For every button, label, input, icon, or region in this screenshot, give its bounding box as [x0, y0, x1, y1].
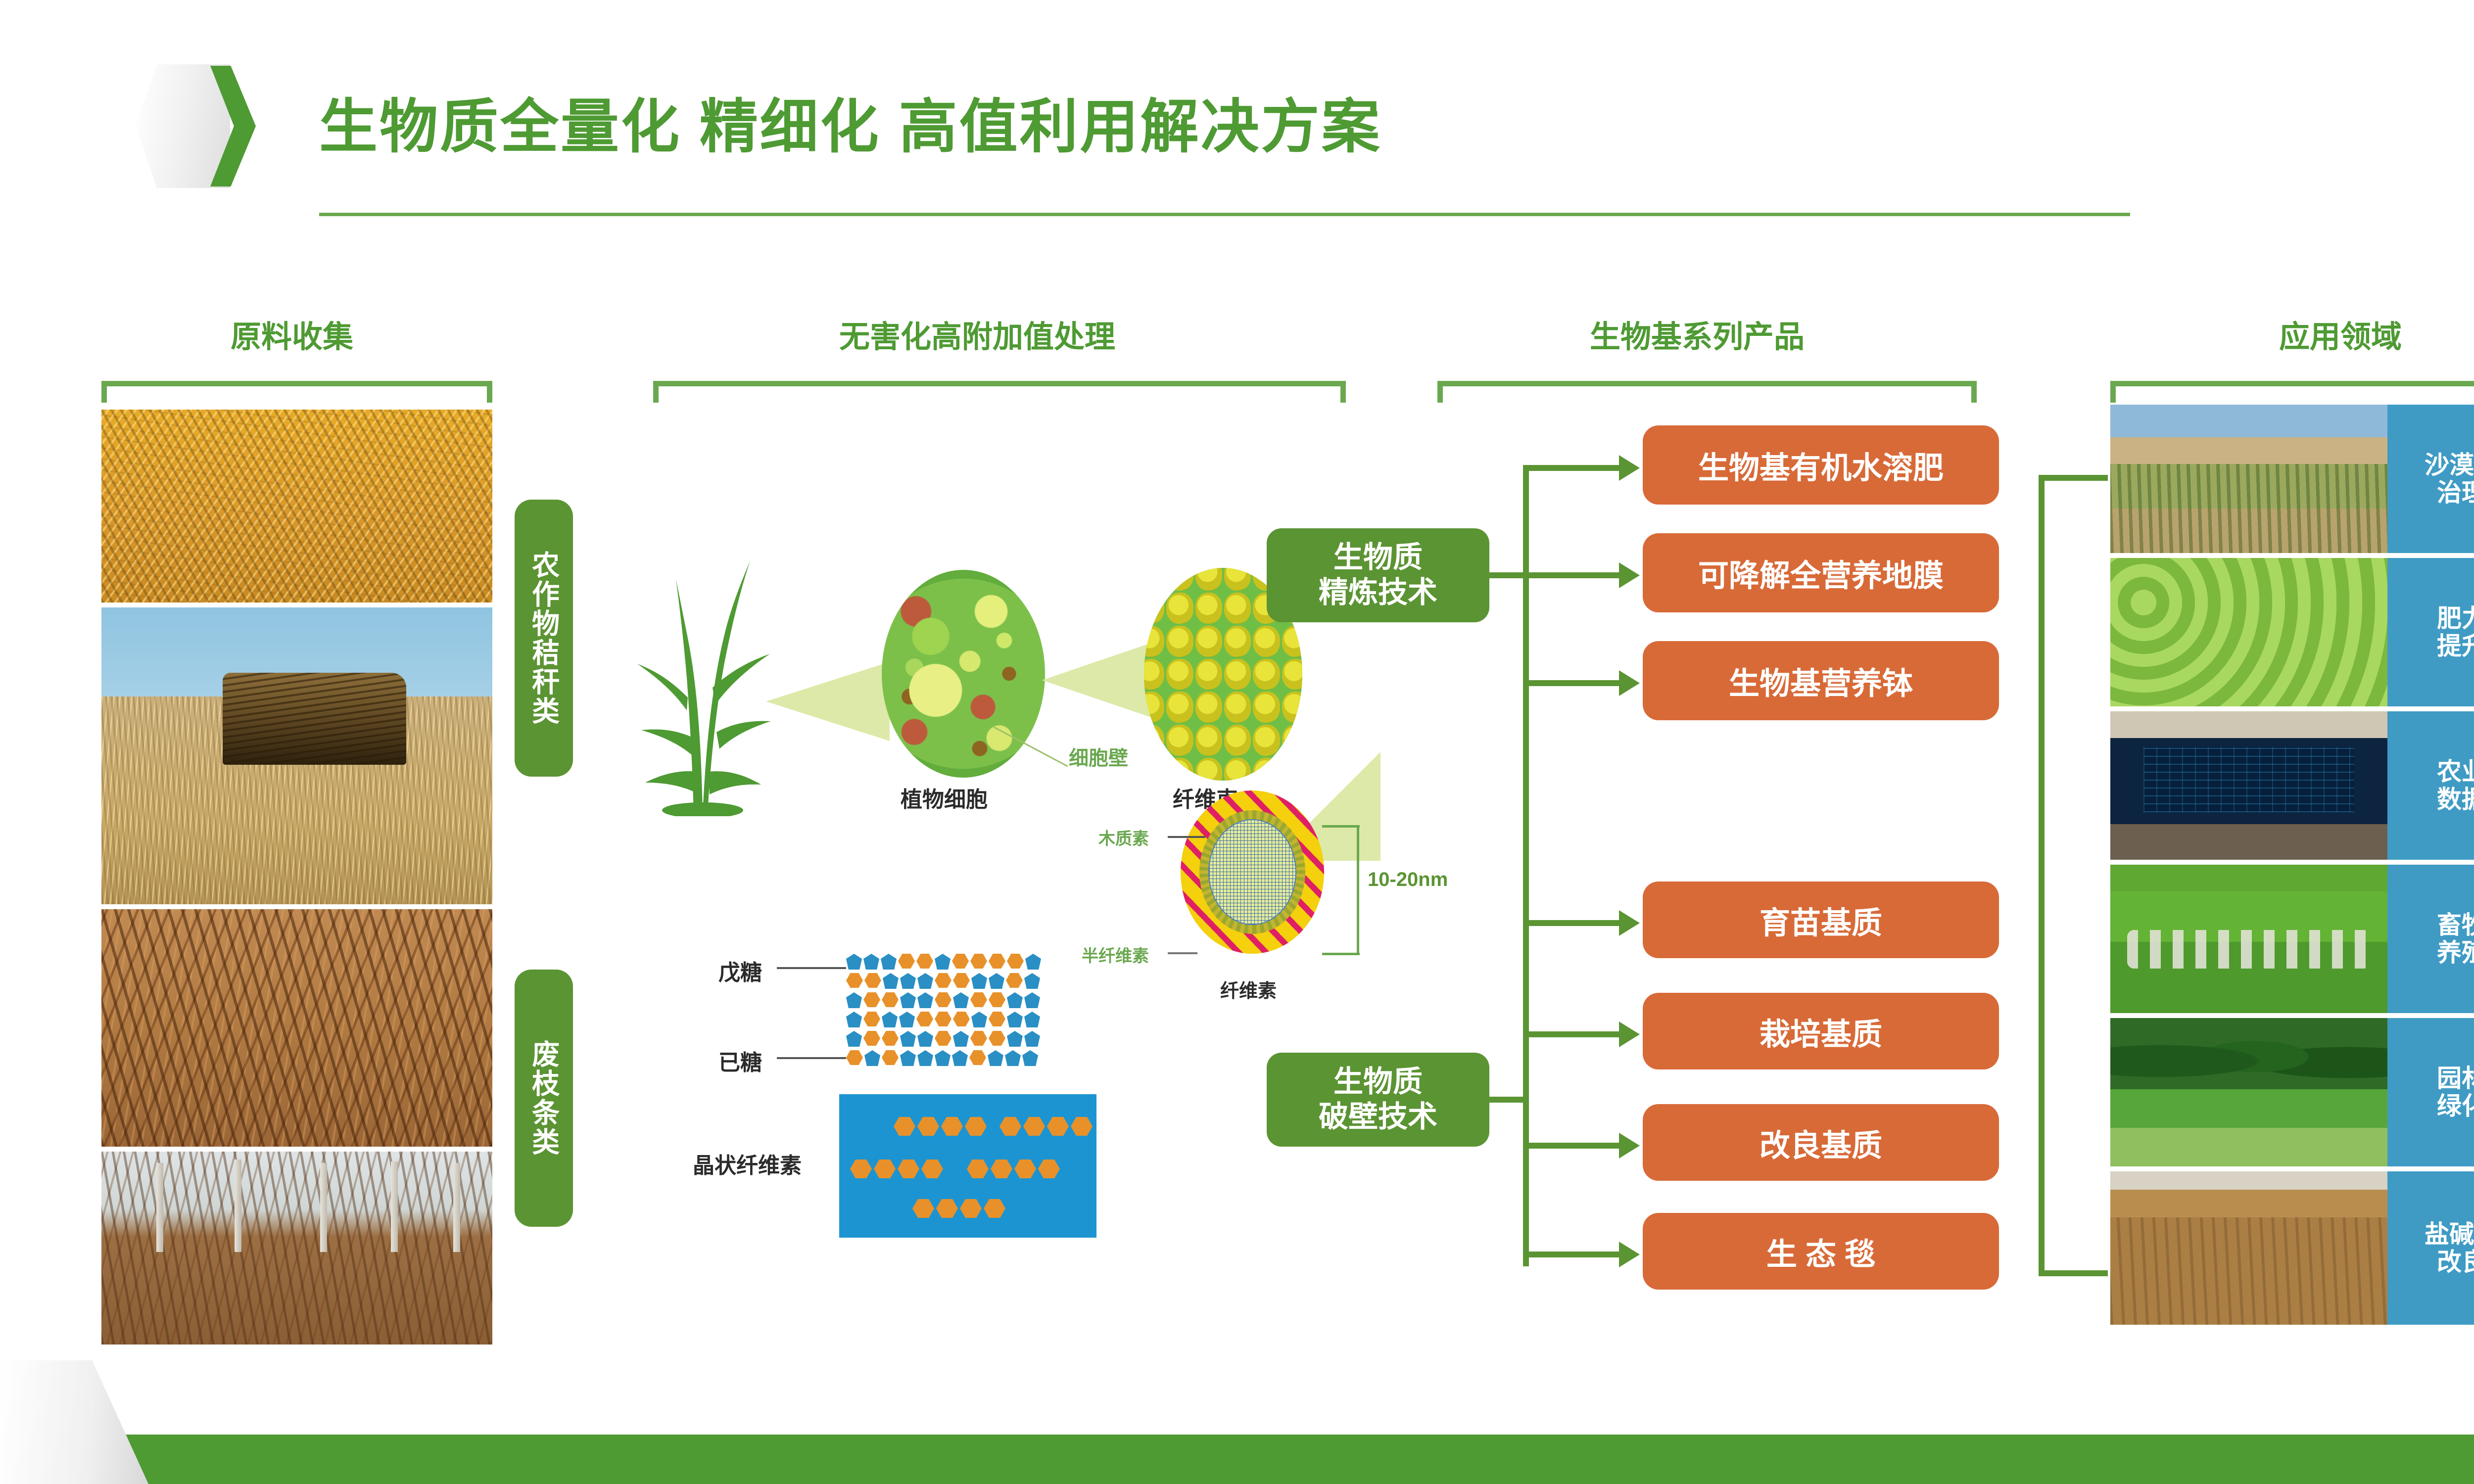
page-title: 生物质全量化 精细化 高值利用解决方案 — [319, 79, 1382, 164]
category-label-crop-straw: 农作物秸秆类 — [515, 500, 573, 777]
application-row-saline-land[interactable]: 盐碱地 改良 — [2110, 1171, 2474, 1325]
tech-box-biomass-refining[interactable]: 生物质 精炼技术 — [1267, 528, 1489, 622]
zoom-wedge-cell — [766, 662, 890, 741]
arrow-to-product-3 — [1619, 670, 1640, 696]
pentose-leader-line — [777, 967, 846, 969]
label-hemicellulose: 半纤维素 — [1082, 942, 1149, 967]
label-nano-dimension: 10-20nm — [1368, 869, 1448, 891]
section-title-raw-material: 原料收集 — [89, 312, 495, 356]
application-tag-livestock: 畜牧 养殖 — [2387, 865, 2474, 1013]
arrow-to-product-7 — [1619, 1242, 1640, 1267]
application-tag-desertification: 沙漠化 治理 — [2387, 405, 2474, 553]
product-box-improvement-substrate[interactable]: 改良基质 — [1643, 1104, 1999, 1181]
page-header: 生物质全量化 精细化 高值利用解决方案 — [0, 0, 2474, 257]
plant-cell-illustration — [882, 570, 1045, 778]
dimension-line-vertical — [1357, 825, 1359, 955]
bracket-processing — [653, 381, 1346, 403]
category-label-waste-branches: 废枝条类 — [515, 970, 573, 1227]
sugar-chain-diagram — [846, 954, 1041, 1069]
bracket-bio-products — [1437, 381, 1977, 403]
product-box-nutrient-pot[interactable]: 生物基营养钵 — [1643, 641, 1999, 720]
hexagon-chevron-icon — [136, 64, 252, 188]
photo-pruned-branches — [101, 909, 492, 1147]
product-box-water-soluble-fertilizer[interactable]: 生物基有机水溶肥 — [1643, 425, 1999, 505]
arrow-to-product-1 — [1619, 455, 1640, 481]
section-title-bio-products: 生物基系列产品 — [1420, 312, 1974, 356]
dimension-tick-bottom — [1322, 953, 1360, 955]
label-cellulose: 纤维素 — [1220, 975, 1277, 1003]
application-tag-fertility: 肥力 提升 — [2387, 558, 2474, 706]
label-hexose: 已糖 — [718, 1045, 762, 1076]
product-box-cultivation-substrate[interactable]: 栽培基质 — [1643, 993, 1999, 1069]
section-title-applications: 应用领域 — [2093, 312, 2474, 356]
photo-sheep-grazing — [2110, 865, 2387, 1013]
label-crystalline-cellulose: 晶状纤维素 — [693, 1148, 802, 1179]
arrow-to-product-5 — [1619, 1021, 1640, 1047]
product-box-seedling-substrate[interactable]: 育苗基质 — [1643, 881, 1999, 958]
product-box-degradable-mulch-film[interactable]: 可降解全营养地膜 — [1643, 533, 1999, 612]
photo-straw-bale-field — [101, 607, 492, 904]
application-row-fertility[interactable]: 肥力 提升 — [2110, 558, 2474, 706]
application-tag-agri-data: 农业 数据 — [2387, 711, 2474, 860]
arrow-to-product-6 — [1619, 1133, 1640, 1159]
photo-cabbage-field — [2110, 558, 2387, 706]
lignin-leader-line — [1168, 836, 1205, 838]
grass-plant-icon — [628, 539, 782, 816]
photo-corn-stalk-field — [101, 410, 492, 603]
photo-saline-alkali-land — [2110, 1171, 2387, 1325]
zoom-wedge-fiber — [1042, 643, 1151, 717]
bracket-applications — [2110, 381, 2474, 403]
application-row-agri-data[interactable]: 农业 数据 — [2110, 711, 2474, 860]
footer-bar — [0, 1435, 2474, 1484]
section-title-processing: 无害化高附加值处理 — [618, 312, 1336, 356]
photo-desert-control — [2110, 405, 2387, 553]
bracket-raw-material — [101, 381, 492, 403]
photo-agriculture-data-center — [2110, 711, 2387, 860]
dimension-tick-top — [1322, 825, 1360, 828]
cellulose-core — [1208, 819, 1296, 925]
hemicellulose-leader-line — [1168, 952, 1197, 954]
label-pentose: 戊糖 — [718, 955, 762, 986]
hexose-leader-line — [777, 1057, 846, 1059]
application-tag-saline-land: 盐碱地 改良 — [2387, 1171, 2474, 1325]
photo-landscape-greening — [2110, 1018, 2387, 1166]
label-cell-wall: 细胞壁 — [1069, 742, 1128, 771]
arrow-to-product-2 — [1619, 562, 1640, 588]
bracket-application-group — [2039, 475, 2108, 1276]
footer-wedge-decoration — [0, 1360, 148, 1484]
label-lignin: 木质素 — [1098, 825, 1149, 849]
application-tag-greening: 园林 绿化 — [2387, 1018, 2474, 1166]
photo-orchard-pruning — [101, 1152, 492, 1345]
label-plant-cell: 植物细胞 — [901, 782, 988, 813]
title-divider — [319, 213, 2130, 216]
crystalline-cellulose-diagram — [839, 1094, 1096, 1238]
application-row-livestock[interactable]: 畜牧 养殖 — [2110, 865, 2474, 1013]
application-row-greening[interactable]: 园林 绿化 — [2110, 1018, 2474, 1166]
tech-box-biomass-wall-breaking[interactable]: 生物质 破壁技术 — [1267, 1053, 1489, 1147]
arrow-to-product-4 — [1619, 910, 1640, 936]
product-box-ecological-blanket[interactable]: 生 态 毯 — [1643, 1213, 1999, 1290]
application-row-desertification[interactable]: 沙漠化 治理 — [2110, 405, 2474, 553]
